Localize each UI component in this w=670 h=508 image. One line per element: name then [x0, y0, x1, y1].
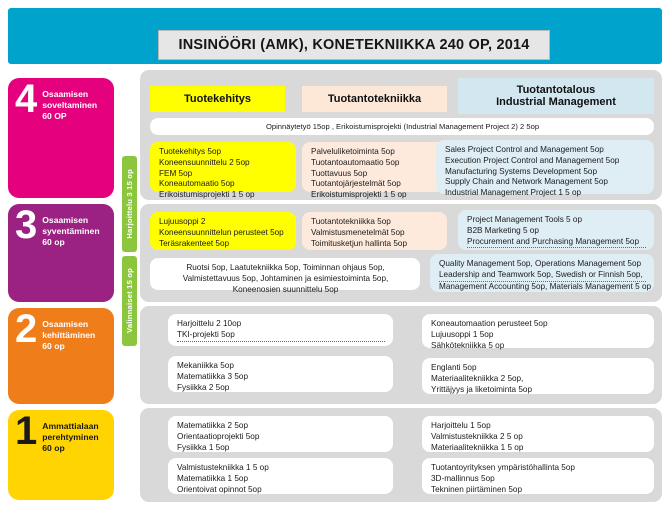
- course-item: Valmistustekniikka 2 5 op: [431, 432, 646, 443]
- level-band-3: Lujuusoppi 2 Koneensuunnittelun perustee…: [140, 204, 662, 302]
- course-item: Tuottavuus 5op: [311, 169, 439, 180]
- course-box-level1-right-bottom: Tuotantoyrityksen ympäristöhallinta 5op …: [422, 458, 654, 494]
- course-item: Koneautomaation perusteet 5op: [431, 319, 646, 330]
- course-item: Lujuusoppi 2: [159, 217, 288, 228]
- course-item: Koneensuunnittelun perusteet 5op: [159, 228, 288, 239]
- course-item: Manufacturing Systems Development 5op: [445, 167, 646, 178]
- level-label-2-line1: Osaamisen: [42, 319, 95, 330]
- side-tab-valinnaiset-label: Valinnaiset 15 op: [125, 268, 134, 333]
- course-item: Materiaalitekniikka 2 5op,: [431, 374, 646, 385]
- level-label-4-line3: 60 OP: [42, 111, 97, 122]
- course-item: Tuotantojärjestelmät 5op: [311, 179, 439, 190]
- level-label-1-line1: Ammattialaan: [42, 421, 98, 432]
- level-label-2-line3: 60 op: [42, 341, 95, 352]
- course-item: Yrittäjyys ja liketoiminta 5op: [431, 385, 646, 396]
- course-item: Harjoittelu 1 5op: [431, 421, 646, 432]
- course-box-level3-tuotantotekniikka: Tuotantotekniikka 5op Valmistusmenetelmä…: [302, 212, 447, 250]
- level-label-3-line1: Osaamisen: [42, 215, 99, 226]
- page-title: INSINÖÖRI (AMK), KONETEKNIIKKA 240 OP, 2…: [178, 37, 529, 53]
- course-item: Erikoistumisprojekti 1 5 op: [159, 190, 288, 201]
- course-item: Koneautomaatio 5op: [159, 179, 288, 190]
- course-box-level4-tuotantotekniikka: Palveluliketoiminta 5op Tuotantoautomaat…: [302, 142, 447, 192]
- course-item: Materiaalitekniikka 1 5 op: [431, 443, 646, 454]
- course-box-level2-left-bottom: Mekaniikka 5op Matematiikka 3 5op Fysiik…: [168, 356, 393, 392]
- course-item: Orientoivat opinnot 5op: [177, 485, 385, 496]
- course-item: Palveluliketoiminta 5op: [311, 147, 439, 158]
- page-title-plate: INSINÖÖRI (AMK), KONETEKNIIKKA 240 OP, 2…: [158, 30, 550, 60]
- course-box-level1-left-top: Matematiikka 2 5op Orientaatioprojekti 5…: [168, 416, 393, 452]
- course-item: Management Accounting 5op, Materials Man…: [439, 282, 646, 293]
- level-label-4-line1: Osaamisen: [42, 89, 97, 100]
- course-box-level2-right-bottom: Englanti 5op Materiaalitekniikka 2 5op, …: [422, 358, 654, 394]
- course-box-level1-left-bottom: Valmistustekniikka 1 5 op Matematiikka 1…: [168, 458, 393, 494]
- level-card-4: 4 Osaamisen soveltaminen 60 OP: [8, 78, 114, 198]
- course-item: Sähkötekniikka 5 op: [431, 341, 646, 352]
- course-item: Tuotantoyrityksen ympäristöhallinta 5op: [431, 463, 646, 474]
- course-item: Erikoistumisprojekti 1 5 op: [311, 190, 439, 201]
- course-item: Fysiikka 2 5op: [177, 383, 385, 394]
- course-box-level2-right-top: Koneautomaation perusteet 5op Lujuusoppi…: [422, 314, 654, 348]
- course-item: Lujuusoppi 1 5op: [431, 330, 646, 341]
- course-item: Matematiikka 3 5op: [177, 372, 385, 383]
- course-item: Sales Project Control and Management 5op: [445, 145, 646, 156]
- course-item: Tuotantotekniikka 5op: [311, 217, 439, 228]
- course-item: FEM 5op: [159, 169, 288, 180]
- column-header-tuotantotalous-fi: Tuotantotalous: [496, 84, 616, 96]
- level-card-1: 1 Ammattialaan perehtyminen 60 op: [8, 410, 114, 500]
- side-tab-valinnaiset: Valinnaiset 15 op: [122, 256, 137, 346]
- course-box-level4-tuotekehitys: Tuotekehitys 5op Koneensuunnittelu 2 5op…: [150, 142, 296, 192]
- course-item: Quality Management 5op, Operations Manag…: [439, 259, 646, 270]
- course-item: Ruotsi 5op, Laatutekniikka 5op, Toiminna…: [159, 263, 412, 295]
- course-box-level3-industrial-management: Project Management Tools 5 op B2B Market…: [458, 210, 654, 250]
- side-tab-harjoittelu-label: Harjoittelu 3 15 op: [125, 169, 134, 239]
- course-item: Teräsrakenteet 5op: [159, 239, 288, 250]
- level-band-1: Matematiikka 2 5op Orientaatioprojekti 5…: [140, 408, 662, 502]
- course-item: Englanti 5op: [431, 363, 646, 374]
- level-label-4: Osaamisen soveltaminen 60 OP: [42, 85, 97, 121]
- level-label-3-line3: 60 op: [42, 237, 99, 248]
- course-box-level3-electives: Ruotsi 5op, Laatutekniikka 5op, Toiminna…: [150, 258, 420, 290]
- course-item: Tuotantoautomaatio 5op: [311, 158, 439, 169]
- level-number-4: 4: [15, 83, 37, 116]
- column-header-tuotantotalous-en: Industrial Management: [496, 96, 616, 108]
- course-item: Koneensuunnittelu 2 5op: [159, 158, 288, 169]
- course-item: Leadership and Teamwork 5op, Swedish or …: [439, 270, 646, 282]
- course-item: Harjoittelu 2 10op: [177, 319, 385, 330]
- level-band-4: Tuotekehitys Tuotantotekniikka Tuotantot…: [140, 70, 662, 200]
- course-item: Valmistusmenetelmät 5op: [311, 228, 439, 239]
- column-header-tuotekehitys: Tuotekehitys: [150, 86, 285, 112]
- column-header-tuotantotalous: Tuotantotalous Industrial Management: [458, 78, 654, 114]
- course-item: Valmistustekniikka 1 5 op: [177, 463, 385, 474]
- level-label-1-line3: 60 op: [42, 443, 98, 454]
- level-card-3: 3 Osaamisen syventäminen 60 op: [8, 204, 114, 302]
- thesis-row-text: Opinnäytetyö 15op , Erikoistumisprojekti…: [266, 122, 539, 132]
- course-box-level1-right-top: Harjoittelu 1 5op Valmistustekniikka 2 5…: [422, 416, 654, 452]
- course-item: Matematiikka 1 5op: [177, 474, 385, 485]
- course-box-level3-quality-management: Quality Management 5op, Operations Manag…: [430, 254, 654, 292]
- header-bar: INSINÖÖRI (AMK), KONETEKNIIKKA 240 OP, 2…: [8, 8, 662, 64]
- course-item: Project Management Tools 5 op: [467, 215, 646, 226]
- column-header-tuotantotekniikka: Tuotantotekniikka: [302, 86, 447, 112]
- course-item: Supply Chain and Network Management 5op: [445, 177, 646, 188]
- level-band-2: Harjoittelu 2 10op TKI-projekti 5op Kone…: [140, 306, 662, 404]
- course-item: TKI-projekti 5op: [177, 330, 385, 342]
- course-item: B2B Marketing 5 op: [467, 226, 646, 237]
- course-item: Fysiikka 1 5op: [177, 443, 385, 454]
- course-item: Orientaatioprojekti 5op: [177, 432, 385, 443]
- course-item: Toimitusketjun hallinta 5op: [311, 239, 439, 250]
- level-label-2-line2: kehittäminen: [42, 330, 95, 341]
- course-item: Tekninen piirtäminen 5op: [431, 485, 646, 496]
- course-box-level3-tuotekehitys: Lujuusoppi 2 Koneensuunnittelun perustee…: [150, 212, 296, 250]
- course-item: Execution Project Control and Management…: [445, 156, 646, 167]
- level-label-2: Osaamisen kehittäminen 60 op: [42, 315, 95, 351]
- level-label-3-line2: syventäminen: [42, 226, 99, 237]
- course-box-level2-left-top: Harjoittelu 2 10op TKI-projekti 5op: [168, 314, 393, 346]
- course-item: Industrial Management Project 1 5 op: [445, 188, 646, 199]
- level-number-3: 3: [15, 209, 37, 242]
- course-item: Mekaniikka 5op: [177, 361, 385, 372]
- course-item: Procurement and Purchasing Management 5o…: [467, 237, 646, 249]
- level-label-1-line2: perehtyminen: [42, 432, 98, 443]
- level-label-3: Osaamisen syventäminen 60 op: [42, 211, 99, 247]
- level-card-2: 2 Osaamisen kehittäminen 60 op: [8, 308, 114, 404]
- side-tab-harjoittelu: Harjoittelu 3 15 op: [122, 156, 137, 252]
- level-number-1: 1: [15, 415, 37, 448]
- level-number-2: 2: [15, 313, 37, 346]
- course-item: Tuotekehitys 5op: [159, 147, 288, 158]
- course-box-level4-industrial-management: Sales Project Control and Management 5op…: [436, 140, 654, 194]
- thesis-row-box: Opinnäytetyö 15op , Erikoistumisprojekti…: [150, 118, 654, 135]
- course-item: Matematiikka 2 5op: [177, 421, 385, 432]
- level-label-4-line2: soveltaminen: [42, 100, 97, 111]
- course-item: 3D-mallinnus 5op: [431, 474, 646, 485]
- level-label-1: Ammattialaan perehtyminen 60 op: [42, 417, 98, 453]
